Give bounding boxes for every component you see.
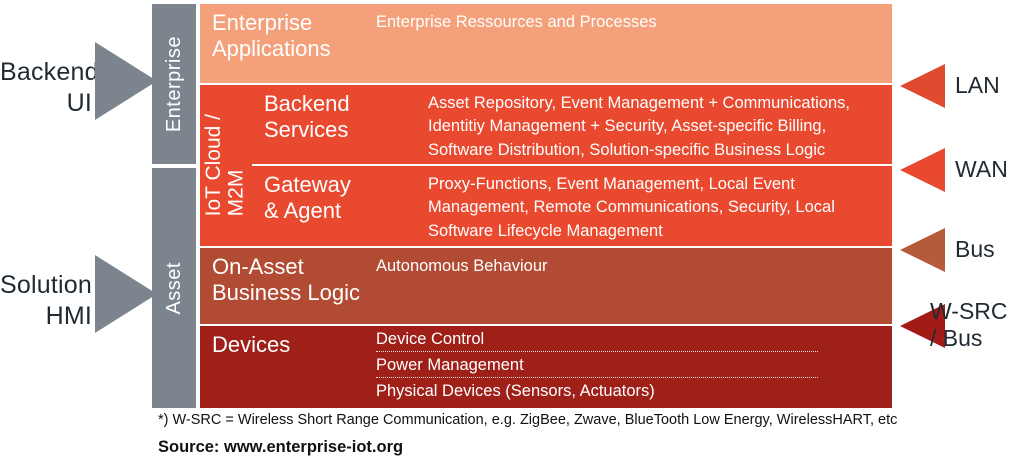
row-devices-label: Devices	[200, 326, 364, 408]
domain-column: Enterprise Asset	[152, 4, 196, 408]
architecture-matrix: Enterprise Asset IoT Cloud / M2M Enterpr…	[152, 4, 892, 408]
device-sublist-item-power: Power Management	[364, 352, 892, 378]
row-backend-services-label: Backend Services	[252, 85, 416, 164]
source-line: Source: www.enterprise-iot.org	[158, 438, 403, 457]
wan-arrow	[900, 148, 945, 192]
solution-hmi-arrow	[95, 255, 157, 333]
row-gateway-agent-body: Proxy-Functions, Event Management, Local…	[416, 166, 892, 246]
domain-band-enterprise: Enterprise	[152, 4, 196, 164]
backend-ui-arrow	[95, 42, 157, 120]
row-backend-services: Backend Services Asset Repository, Event…	[200, 85, 892, 164]
lan-arrow	[900, 64, 945, 108]
layer-rows: IoT Cloud / M2M Enterprise Applications …	[200, 4, 892, 408]
bus-label: Bus	[955, 236, 995, 263]
row-on-asset-business-logic-label: On-Asset Business Logic	[200, 248, 364, 324]
bus-arrow	[900, 228, 945, 272]
device-sublist-item-physical: Physical Devices (Sensors, Actuators)	[364, 378, 892, 404]
row-on-asset-business-logic: On-Asset Business Logic Autonomous Behav…	[200, 248, 892, 324]
row-gateway-agent-label: Gateway & Agent	[252, 166, 416, 246]
device-sublist-item-control: Device Control	[364, 326, 892, 352]
iot-cloud-m2m-strip: IoT Cloud / M2M	[200, 85, 252, 246]
iot-cloud-m2m-label: IoT Cloud / M2M	[203, 114, 248, 216]
row-backend-services-body: Asset Repository, Event Management + Com…	[416, 85, 892, 164]
lan-label: LAN	[955, 72, 1000, 99]
backend-ui-label: Backend UI	[0, 57, 92, 118]
row-enterprise-applications-label: Enterprise Applications	[200, 4, 364, 83]
footnote-wsrc: *) W-SRC = Wireless Short Range Communic…	[158, 412, 897, 428]
wsrc-bus-label: W-SRC / Bus	[930, 298, 1008, 352]
solution-hmi-label: Solution HMI	[0, 270, 92, 331]
devices-sublist: Device Control Power Management Physical…	[364, 326, 892, 408]
row-enterprise-applications: Enterprise Applications Enterprise Resso…	[200, 4, 892, 83]
row-devices: Devices Device Control Power Management …	[200, 326, 892, 408]
row-enterprise-applications-body: Enterprise Ressources and Processes	[364, 4, 892, 83]
diagram-canvas: Backend UI Solution HMI Enterprise Asset…	[0, 0, 1015, 462]
domain-band-asset-label: Asset	[163, 262, 186, 315]
wan-label: WAN	[955, 156, 1008, 183]
row-gateway-agent: Gateway & Agent Proxy-Functions, Event M…	[200, 166, 892, 246]
domain-band-enterprise-label: Enterprise	[163, 36, 186, 132]
domain-band-asset: Asset	[152, 168, 196, 408]
row-on-asset-business-logic-body: Autonomous Behaviour	[364, 248, 892, 324]
